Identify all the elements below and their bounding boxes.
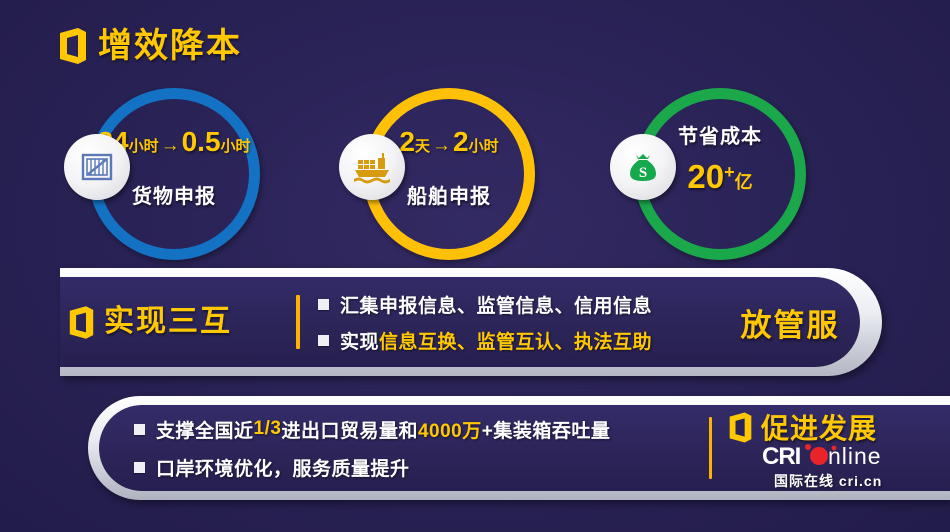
arrow-icon: → [159, 135, 182, 156]
metric-circle-cargo: 24小时→0.5小时 货物申报 [88, 88, 260, 260]
bullet-seg: 口岸环境优化，服务质量提升 [156, 454, 410, 481]
page-title: 增效降本 [98, 29, 242, 63]
list-item: 支撑全国近1/3进出口贸易量和4000万+集装箱吞吐量 [134, 416, 709, 443]
bottom-band: 支撑全国近1/3进出口贸易量和4000万+集装箱吞吐量 口岸环境优化，服务质量提… [88, 396, 950, 500]
metric-circle-ship: 2天→2小时 船舶申报 [363, 88, 535, 260]
bullet-seg-highlight: 4000万 [418, 416, 482, 443]
middle-band-bullets: 汇集申报信息、监管信息、信用信息 实现信息互换、监管互认、执法互助 [318, 291, 704, 354]
bullet-square-icon [318, 299, 329, 310]
bullet-seg-highlight: 1/3 [254, 418, 282, 440]
promo-block: 促进发展 CRI nline 国际在线 cri.cn [728, 405, 950, 491]
arrow-icon: → [430, 135, 453, 156]
office-square-icon [58, 28, 88, 64]
metric-to-unit: 小时 [469, 138, 499, 155]
bottom-band-bullets: 支撑全国近1/3进出口贸易量和4000万+集装箱吞吐量 口岸环境优化，服务质量提… [134, 416, 709, 481]
metric-from-unit: 天 [415, 138, 430, 155]
bullet-square-icon [134, 424, 145, 435]
metric-to-value: 0.5 [182, 126, 221, 157]
bullet-text: 汇集申报信息、监管信息、信用信息 [340, 291, 652, 318]
svg-text:S: S [639, 165, 647, 181]
middle-band: 实现三互 汇集申报信息、监管信息、信用信息 实现信息互换、监管互认、执法互助 放… [60, 268, 882, 376]
cri-online-logo: CRI nline [762, 443, 950, 469]
bullet-seg: 进出口贸易量和 [281, 416, 418, 443]
vertical-divider [709, 417, 712, 479]
bullet-seg: +集装箱吞吐量 [482, 416, 611, 443]
metric-label: 节省成本 [678, 126, 762, 148]
cri-subtitle: 国际在线 cri.cn [774, 471, 950, 491]
promo-title: 促进发展 [761, 407, 877, 447]
list-item: 实现信息互换、监管互认、执法互助 [318, 327, 704, 354]
bullet-square-icon [318, 335, 329, 346]
svg-text:CRI: CRI [762, 443, 801, 469]
office-square-icon [728, 412, 753, 443]
bullet-text-highlight: 信息互换、监管互认、执法互助 [379, 327, 652, 354]
cost-amount: 20 [687, 158, 724, 195]
cost-plus: + [724, 162, 735, 182]
metric-to-unit: 小时 [221, 138, 251, 155]
tag-label: 放管服 [741, 308, 840, 343]
metric-label: 船舶申报 [407, 186, 491, 208]
vertical-divider [296, 295, 300, 349]
money-bag-icon: S [610, 134, 676, 200]
middle-band-title: 实现三互 [104, 307, 232, 337]
metric-label: 货物申报 [132, 186, 216, 208]
page-header: 增效降本 [58, 28, 242, 64]
crate-icon [64, 134, 130, 200]
office-square-icon [68, 306, 95, 339]
bullet-text: 实现 [340, 327, 379, 354]
middle-band-heading: 实现三互 [68, 306, 296, 339]
metric-circle-cost: S 节省成本 20+亿 [634, 88, 806, 260]
metrics-row: 24小时→0.5小时 货物申报 2天→2小时 [0, 88, 950, 260]
bullet-square-icon [134, 462, 145, 473]
cargo-ship-icon [339, 134, 405, 200]
list-item: 口岸环境优化，服务质量提升 [134, 454, 709, 481]
bullet-seg: 支撑全国近 [156, 416, 254, 443]
middle-band-tag: 放管服 [704, 300, 882, 345]
list-item: 汇集申报信息、监管信息、信用信息 [318, 291, 704, 318]
cost-unit: 亿 [735, 172, 753, 192]
metric-from-unit: 小时 [129, 138, 159, 155]
metric-to-value: 2 [453, 126, 469, 157]
